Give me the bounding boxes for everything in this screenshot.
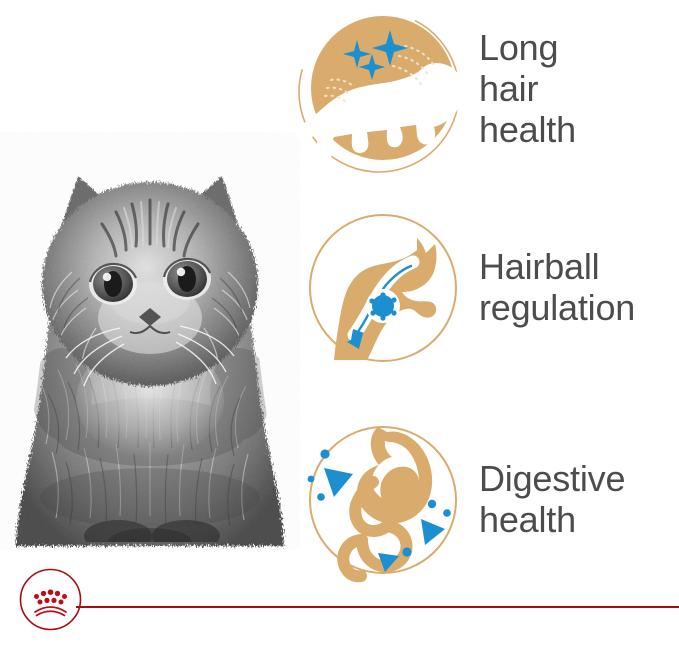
brand-divider-rule (76, 606, 679, 608)
benefit-label-digestive-health: Digestive health (471, 459, 679, 540)
benefit-item-long-hair-health: Long hair health (295, 2, 679, 177)
benefit-label-hairball-regulation: Hairball regulation (471, 247, 679, 328)
benefit-label-long-hair-health: Long hair health (471, 28, 679, 150)
product-benefits-panel: Long hair health (0, 0, 679, 645)
persian-cat-photo (0, 132, 300, 550)
hairball-regulation-icon (295, 200, 471, 376)
royal-canin-crown-icon (19, 568, 82, 631)
benefits-list: Long hair health (295, 0, 679, 580)
brand-footer (0, 560, 679, 645)
long-hair-health-icon (295, 2, 471, 178)
benefit-item-hairball-regulation: Hairball regulation (295, 200, 679, 375)
